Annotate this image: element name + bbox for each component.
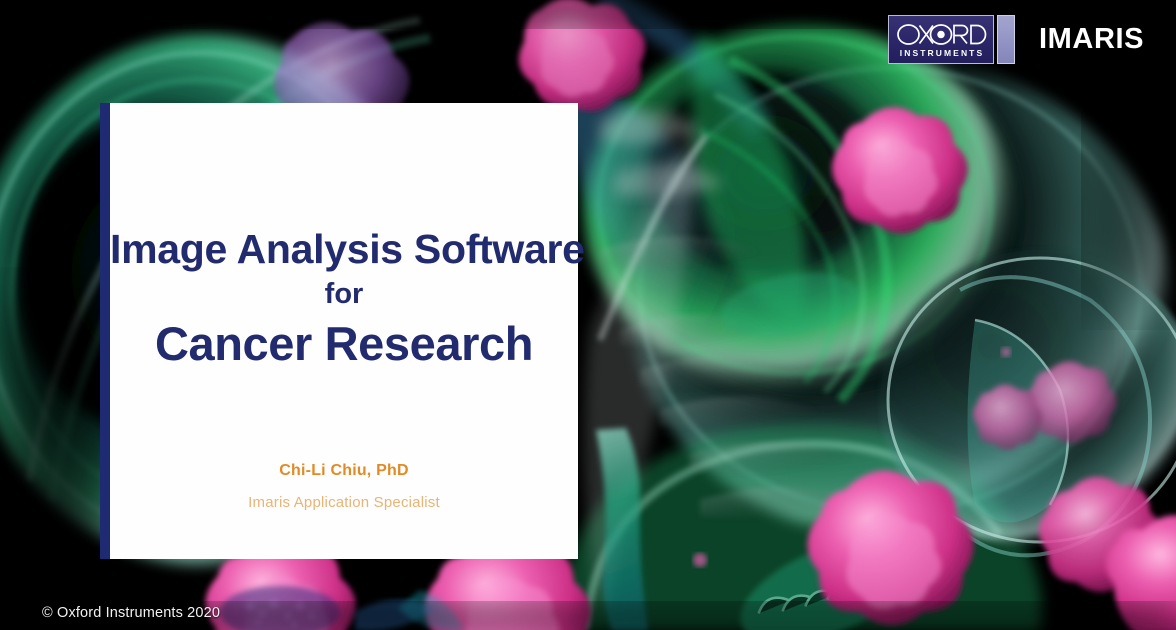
title-line-3: Cancer Research [110, 319, 578, 368]
title-card: Image Analysis Software for Cancer Resea… [100, 103, 578, 559]
presenter-block: Chi-Li Chiu, PhD Imaris Application Spec… [110, 461, 578, 512]
imaris-wordmark: IMARIS [1039, 25, 1144, 54]
oxford-instruments-logo: INSTRUMENTS [888, 15, 994, 64]
page-title: Image Analysis Software for Cancer Resea… [110, 228, 578, 368]
card-accent-bar [100, 103, 110, 559]
instruments-label: INSTRUMENTS [898, 49, 985, 58]
title-line-2: for [110, 273, 578, 317]
oxford-wordmark-icon [895, 21, 987, 48]
presenter-name: Chi-Li Chiu, PhD [110, 461, 578, 482]
logo-accent-bar [997, 15, 1015, 64]
branding-bar: INSTRUMENTS IMARIS [888, 14, 1144, 64]
presenter-role: Imaris Application Specialist [110, 493, 578, 513]
copyright-notice: © Oxford Instruments 2020 [42, 605, 220, 621]
card-body: Image Analysis Software for Cancer Resea… [110, 103, 578, 559]
title-line-1: Image Analysis Software [110, 228, 578, 271]
slide-canvas: INSTRUMENTS IMARIS Image Analysis Softwa… [0, 0, 1176, 630]
